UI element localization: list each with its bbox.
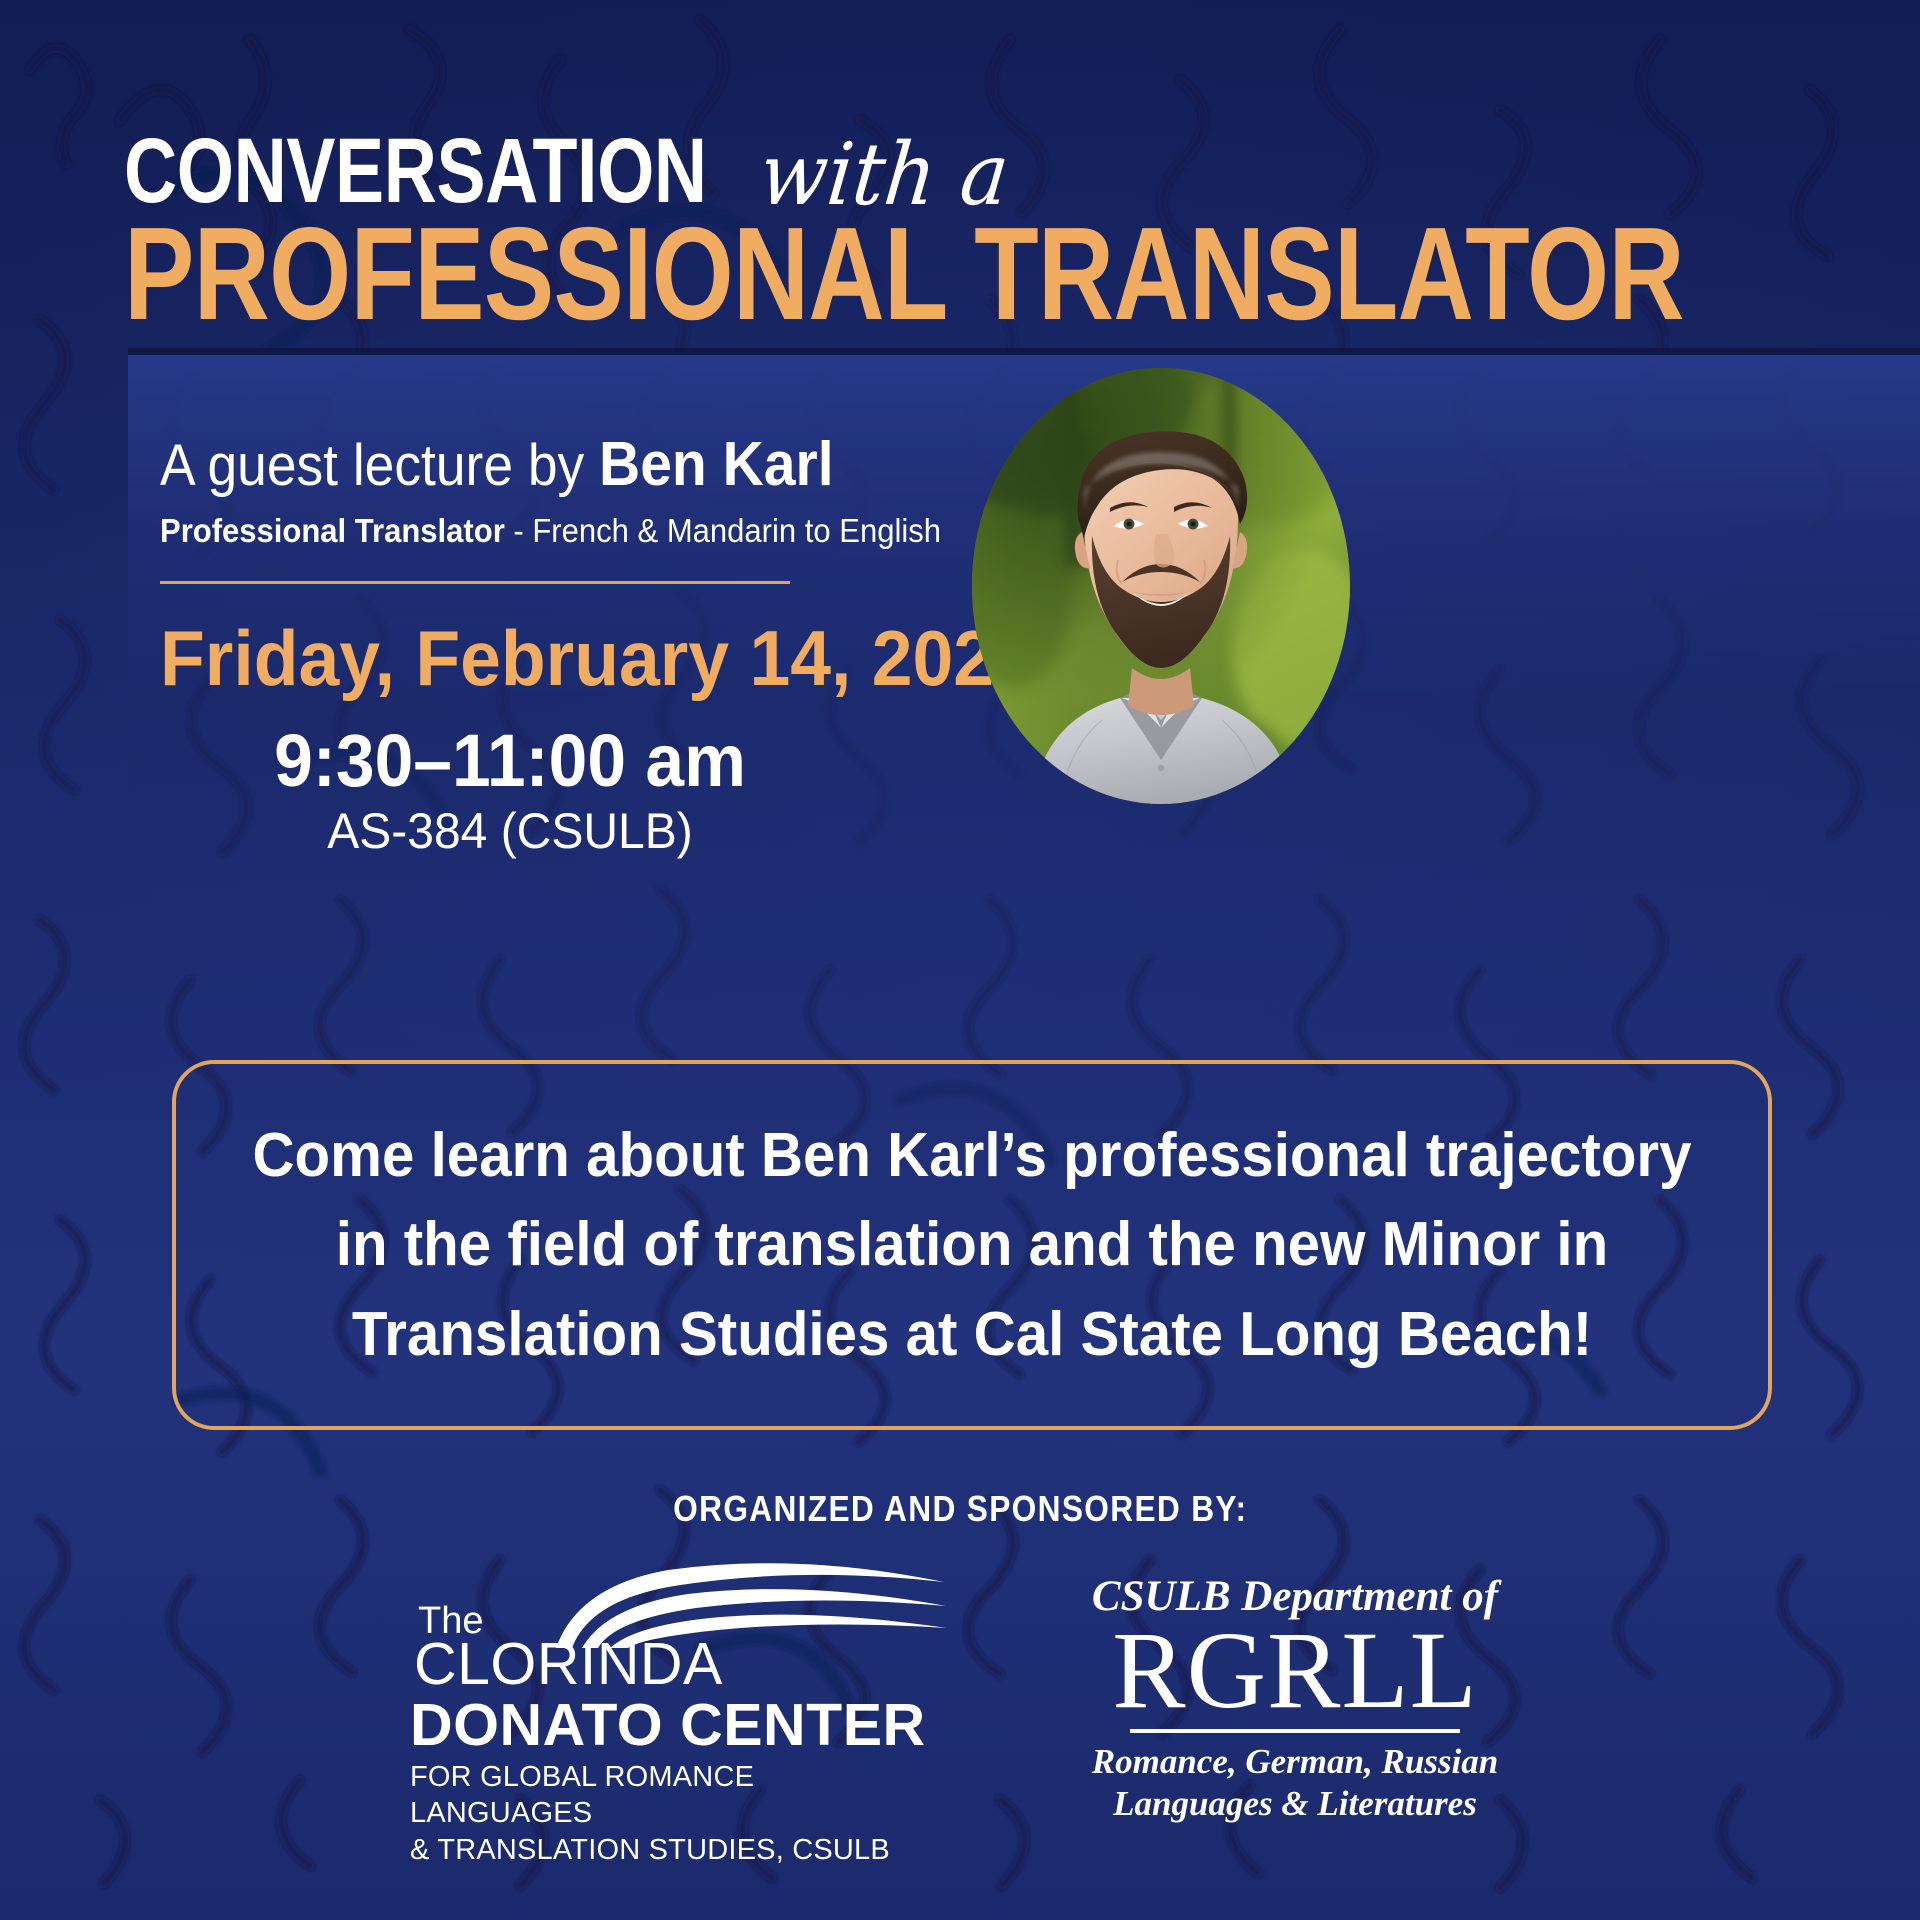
- clorinda-donato-center-logo: The CLORINDA DONATO CENTER FOR GLOBAL RO…: [410, 1560, 930, 1868]
- speaker-credential-languages: - French & Mandarin to English: [505, 512, 941, 549]
- speaker-credential-line: Professional Translator - French & Manda…: [160, 511, 931, 551]
- rgrll-logo: CSULB Department of RGRLL Romance, Germa…: [1080, 1560, 1510, 1825]
- description-text: Come learn about Ben Karl’s professional…: [239, 1111, 1705, 1379]
- event-date: Friday, February 14, 2020: [160, 618, 931, 700]
- description-line-3: Translation Studies at Cal State Long Be…: [239, 1290, 1705, 1379]
- rgrll-tagline-line-2: Languages & Literatures: [1080, 1783, 1510, 1825]
- orange-divider: [160, 581, 790, 584]
- description-line-2: in the field of translation and the new …: [239, 1200, 1705, 1289]
- event-time: 9:30–11:00 am: [181, 724, 839, 798]
- event-location: AS-384 (CSULB): [174, 804, 846, 859]
- guest-lecture-line: A guest lecture by Ben Karl: [160, 430, 914, 499]
- avatar: [972, 368, 1350, 804]
- info-panel-top-edge: [128, 348, 1920, 358]
- cdc-donato-center-label: DONATO CENTER: [410, 1696, 930, 1755]
- cdc-subtitle-line-1: FOR GLOBAL ROMANCE LANGUAGES: [410, 1759, 930, 1832]
- cdc-subtitle: FOR GLOBAL ROMANCE LANGUAGES & TRANSLATI…: [410, 1759, 930, 1869]
- description-line-1: Come learn about Ben Karl’s professional…: [239, 1111, 1705, 1200]
- speaker-credential-title: Professional Translator: [160, 512, 505, 549]
- description-box: Come learn about Ben Karl’s professional…: [172, 1060, 1772, 1430]
- event-time-location-group: 9:30–11:00 am AS-384 (CSULB): [160, 724, 860, 859]
- event-poster: CONVERSATION with a PROFESSIONAL TRANSLA…: [0, 0, 1920, 1920]
- title-professional-translator: PROFESSIONAL TRANSLATOR: [124, 208, 1484, 340]
- cdc-subtitle-line-2: & TRANSLATION STUDIES, CSULB: [410, 1832, 930, 1869]
- rgrll-tagline-line-1: Romance, German, Russian: [1080, 1741, 1510, 1783]
- rgrll-tagline: Romance, German, Russian Languages & Lit…: [1080, 1741, 1510, 1825]
- rgrll-acronym: RGRLL: [1080, 1617, 1510, 1725]
- speaker-info-block: A guest lecture by Ben Karl Professional…: [160, 430, 980, 859]
- speaker-portrait-image: [972, 368, 1350, 804]
- sponsor-label: ORGANIZED AND SPONSORED BY:: [0, 1488, 1920, 1530]
- cdc-clorinda-label: CLORINDA: [414, 1636, 930, 1694]
- page-title: CONVERSATION with a PROFESSIONAL TRANSLA…: [124, 118, 1824, 340]
- guest-lecture-prefix: A guest lecture by: [160, 433, 599, 498]
- sponsor-label-text: ORGANIZED AND SPONSORED BY:: [673, 1488, 1247, 1530]
- speaker-name: Ben Karl: [599, 430, 834, 499]
- sponsor-logos: The CLORINDA DONATO CENTER FOR GLOBAL RO…: [0, 1560, 1920, 1890]
